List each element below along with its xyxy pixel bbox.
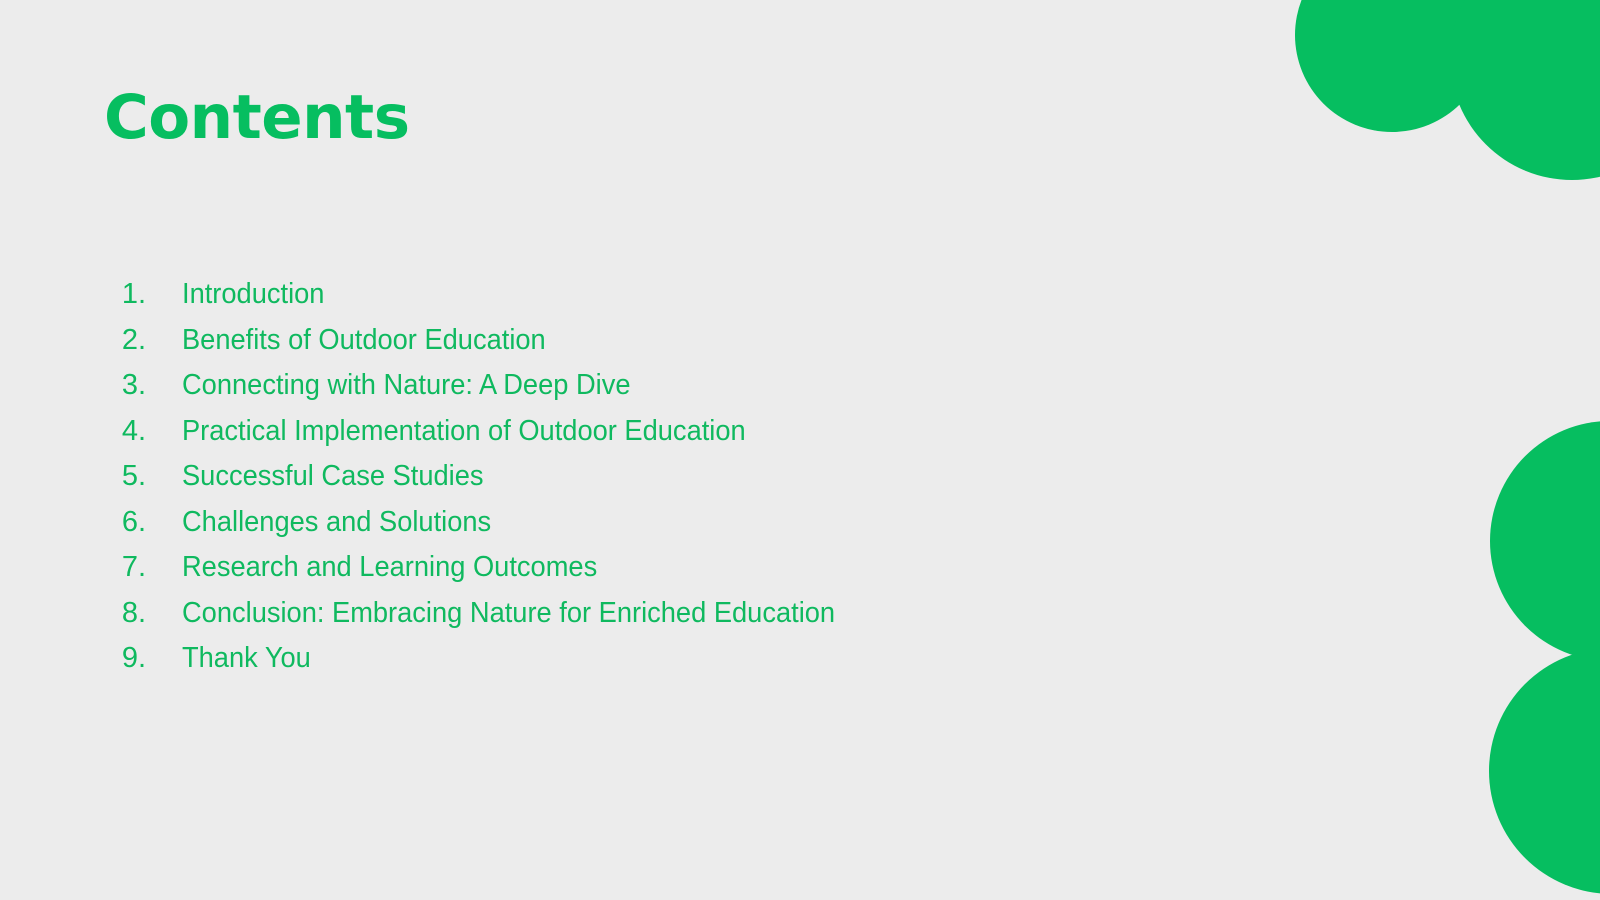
list-item-label: Practical Implementation of Outdoor Educ… (182, 417, 746, 446)
list-item-number: 3. (104, 371, 146, 400)
list-item-number: 6. (104, 508, 146, 537)
list-item-label: Benefits of Outdoor Education (182, 326, 546, 355)
contents-list: 1. Introduction 2. Benefits of Outdoor E… (104, 280, 1204, 690)
list-item-number: 2. (104, 326, 146, 355)
list-item-label: Thank You (182, 644, 311, 673)
list-item-label: Introduction (182, 280, 324, 309)
list-item[interactable]: 5. Successful Case Studies (104, 462, 1204, 508)
top-right-blob-icon (1295, 0, 1600, 180)
list-item[interactable]: 8. Conclusion: Embracing Nature for Enri… (104, 599, 1204, 645)
list-item[interactable]: 7. Research and Learning Outcomes (104, 553, 1204, 599)
list-item-label: Challenges and Solutions (182, 508, 491, 537)
list-item[interactable]: 3. Connecting with Nature: A Deep Dive (104, 371, 1204, 417)
list-item-number: 9. (104, 644, 146, 673)
list-item-label: Connecting with Nature: A Deep Dive (182, 371, 631, 400)
list-item-label: Research and Learning Outcomes (182, 553, 597, 582)
page-title: Contents (104, 86, 410, 150)
list-item-label: Conclusion: Embracing Nature for Enriche… (182, 599, 835, 628)
contents-slide: Contents 1. Introduction 2. Benefits of … (0, 0, 1600, 900)
list-item-label: Successful Case Studies (182, 462, 484, 491)
list-item[interactable]: 4. Practical Implementation of Outdoor E… (104, 417, 1204, 463)
list-item-number: 8. (104, 599, 146, 628)
right-edge-blob-icon (1489, 421, 1600, 894)
list-item-number: 5. (104, 462, 146, 491)
list-item[interactable]: 1. Introduction (104, 280, 1204, 326)
list-item[interactable]: 6. Challenges and Solutions (104, 508, 1204, 554)
list-item[interactable]: 9. Thank You (104, 644, 1204, 690)
list-item-number: 4. (104, 417, 146, 446)
list-item-number: 1. (104, 280, 146, 309)
list-item-number: 7. (104, 553, 146, 582)
list-item[interactable]: 2. Benefits of Outdoor Education (104, 326, 1204, 372)
